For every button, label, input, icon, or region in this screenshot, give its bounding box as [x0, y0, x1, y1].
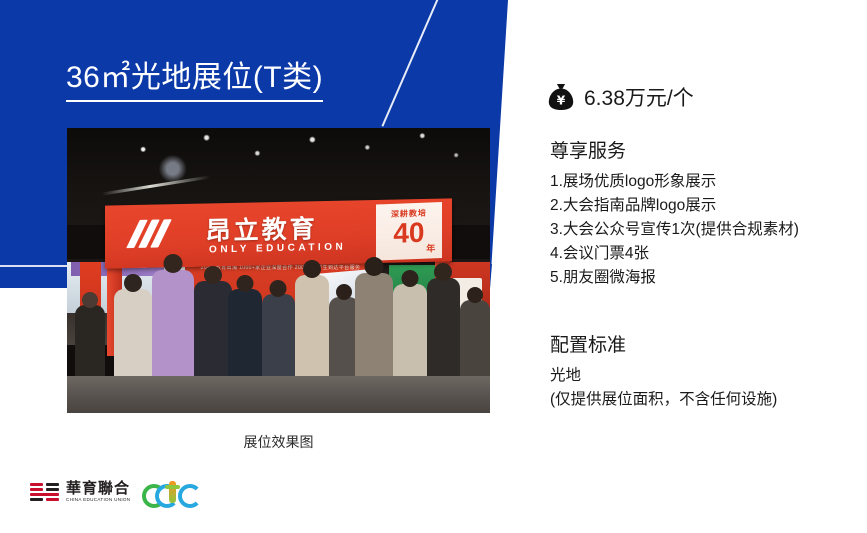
- services-list: 1.展场优质logo形象展示 2.大会指南品牌logo展示 3.大会公众号宣传1…: [550, 170, 799, 290]
- config-line-2: (仅提供展位面积，不含任何设施): [550, 388, 777, 412]
- photo-crowd: [67, 253, 490, 390]
- config-heading: 配置标准: [550, 330, 626, 357]
- svg-text:¥: ¥: [557, 93, 566, 107]
- config-body: 光地 (仅提供展位面积，不含任何设施): [550, 364, 777, 412]
- booth-anniversary-badge: 深耕教培 40 年: [376, 202, 442, 261]
- cetc-ring-3: [178, 484, 202, 508]
- photo-caption: 展位效果图: [67, 432, 490, 452]
- page-title: 36㎡光地展位(T类): [66, 58, 323, 102]
- cue-name-cn: 華育聯合: [66, 481, 130, 496]
- photo-floor: [67, 376, 490, 413]
- cue-wordmark: 華育聯合 CHINA EDUCATION UNION: [66, 481, 130, 503]
- list-item: 3.大会公众号宣传1次(提供合规素材): [550, 218, 799, 242]
- money-bag-icon: ¥: [548, 83, 574, 111]
- china-education-union-logo: 華育聯合 CHINA EDUCATION UNION: [30, 481, 130, 503]
- services-heading: 尊享服务: [550, 136, 626, 163]
- cetc-logo: [142, 481, 198, 503]
- footer-logos: 華育聯合 CHINA EDUCATION UNION: [30, 481, 198, 503]
- cetc-torch-icon: [169, 481, 176, 503]
- config-line-1: 光地: [550, 364, 777, 388]
- exhibition-booth-photo: 20+年教育出海 1000+家企业深度合作 200000+学生到达平台服务 AI…: [67, 128, 490, 413]
- price-amount: 6.38万元/个: [584, 82, 694, 112]
- list-item: 1.展场优质logo形象展示: [550, 170, 799, 194]
- price-row: ¥ 6.38万元/个: [548, 82, 694, 112]
- booth-brand-cn: 昂立教育: [206, 209, 318, 247]
- cue-mark-icon: [30, 482, 60, 502]
- badge-unit: 年: [426, 241, 435, 254]
- booth-brand-icon: [133, 219, 167, 250]
- cue-name-en: CHINA EDUCATION UNION: [66, 498, 130, 503]
- list-item: 4.会议门票4张: [550, 242, 799, 266]
- list-item: 5.朋友圈微海报: [550, 266, 799, 290]
- slide-root: 36㎡光地展位(T类) 20+年教育出海 1000+家企业深度合作 200000…: [0, 0, 867, 533]
- list-item: 2.大会指南品牌logo展示: [550, 194, 799, 218]
